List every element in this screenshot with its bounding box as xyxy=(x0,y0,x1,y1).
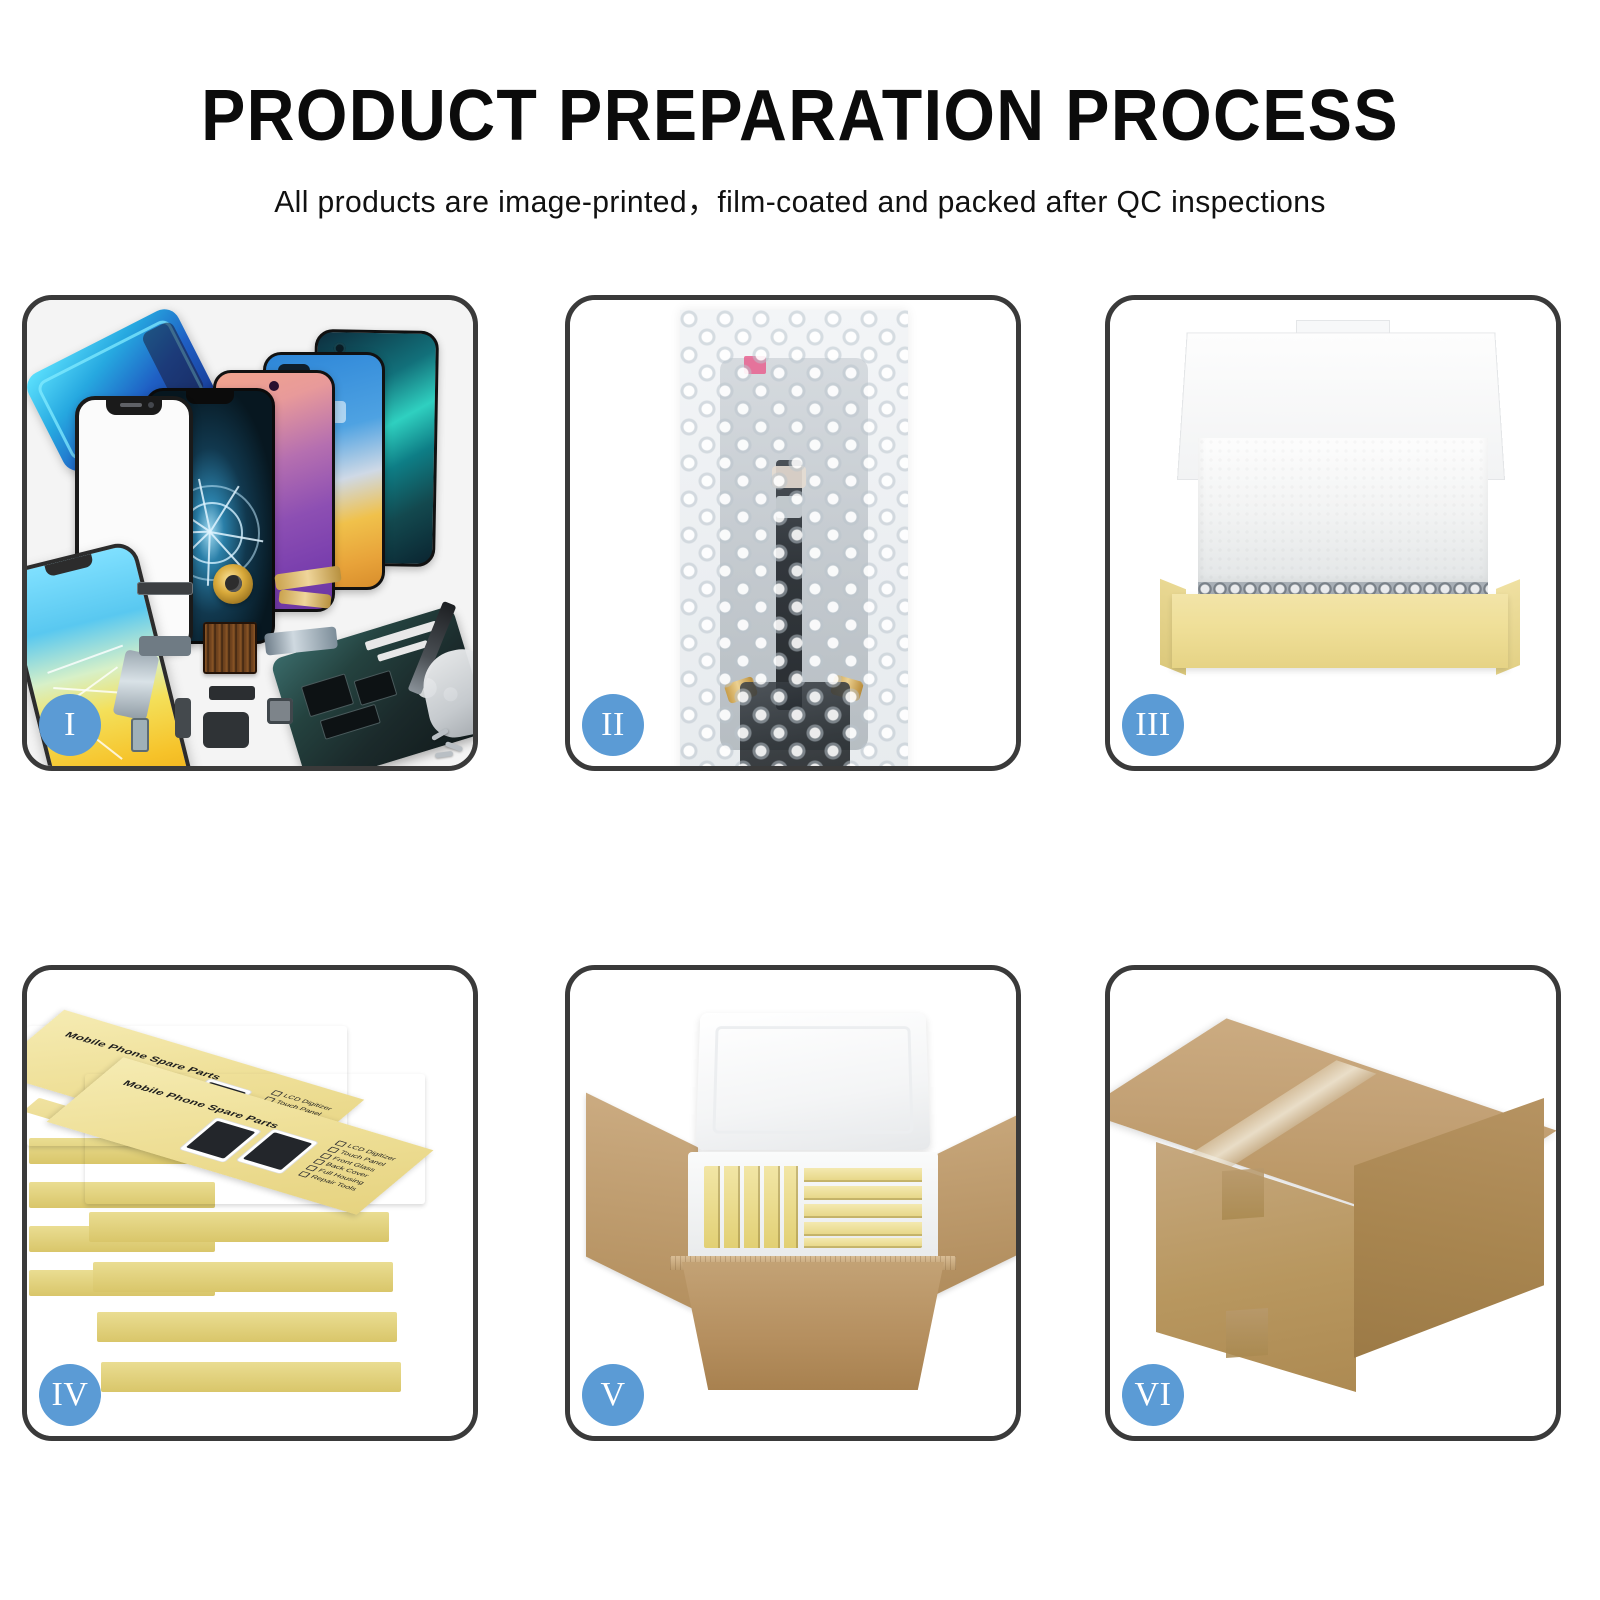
step-badge-3: III xyxy=(1122,694,1184,756)
front-camera-hole xyxy=(148,402,154,408)
packed-retail-boxes xyxy=(704,1166,922,1248)
step-panel-4[interactable]: Mobile Phone Spare Parts LCD Digitizer T… xyxy=(22,965,478,1441)
flex-connector xyxy=(139,636,191,656)
camera-module xyxy=(267,698,293,724)
step-4-image: Mobile Phone Spare Parts LCD Digitizer T… xyxy=(27,970,473,1436)
ic-chip xyxy=(203,622,257,674)
foam-sheet xyxy=(1198,438,1488,588)
retail-box-brand-b: Mobile Phone Spare Parts xyxy=(120,1079,282,1130)
step-5-image xyxy=(570,970,1016,1436)
step-panel-1[interactable]: I xyxy=(22,295,478,771)
step-badge-5: V xyxy=(582,1364,644,1426)
step-panel-5[interactable]: V xyxy=(565,965,1021,1441)
step-1-image xyxy=(27,300,473,766)
bubble-wrap-bag xyxy=(680,310,908,766)
carton-seam-tab-top xyxy=(1222,1168,1264,1220)
step-6-image xyxy=(1110,970,1556,1436)
retail-box-front: Mobile Phone Spare Parts LCD Digitizer T… xyxy=(85,1074,425,1204)
step-2-image xyxy=(570,300,1016,766)
step-3-image xyxy=(1110,300,1556,766)
step-badge-2: II xyxy=(582,694,644,756)
front-camera-dot xyxy=(269,381,279,391)
page-subtitle: All products are image-printed，film-coat… xyxy=(24,176,1576,221)
step-panel-3[interactable]: III xyxy=(1105,295,1561,771)
step-badge-4: IV xyxy=(39,1364,101,1426)
step-badge-6: VI xyxy=(1122,1364,1184,1426)
step-badge-1: I xyxy=(39,694,101,756)
screws-group xyxy=(431,732,473,760)
phone-notch xyxy=(186,391,234,404)
loudspeaker-box xyxy=(203,712,249,748)
page-title: PRODUCT PREPARATION PROCESS xyxy=(64,80,1536,152)
carton-seam-tab-bottom xyxy=(1226,1308,1268,1358)
earpiece-speaker xyxy=(120,403,142,407)
power-button-flex xyxy=(175,698,191,738)
speaker-module xyxy=(137,582,193,595)
carton-body xyxy=(682,1262,944,1390)
process-step-grid: I II xyxy=(22,295,1578,1443)
broken-phone-notch xyxy=(44,554,93,577)
mailer-front-wall xyxy=(1172,594,1508,668)
header: PRODUCT PREPARATION PROCESS All products… xyxy=(0,0,1600,221)
crack-lines xyxy=(210,531,211,532)
vibration-motor xyxy=(209,686,255,700)
wireless-charging-coil xyxy=(213,564,253,604)
carton-flap-left xyxy=(586,1093,698,1312)
retail-box-lid-b: Mobile Phone Spare Parts LCD Digitizer T… xyxy=(47,1057,434,1214)
infographic-page: PRODUCT PREPARATION PROCESS All products… xyxy=(0,0,1600,1600)
step-panel-2[interactable]: II xyxy=(565,295,1021,771)
step-panel-6[interactable]: VI xyxy=(1105,965,1561,1441)
styrofoam-lid xyxy=(696,1013,931,1150)
sim-tray xyxy=(131,718,149,752)
bubble-texture xyxy=(680,310,908,766)
